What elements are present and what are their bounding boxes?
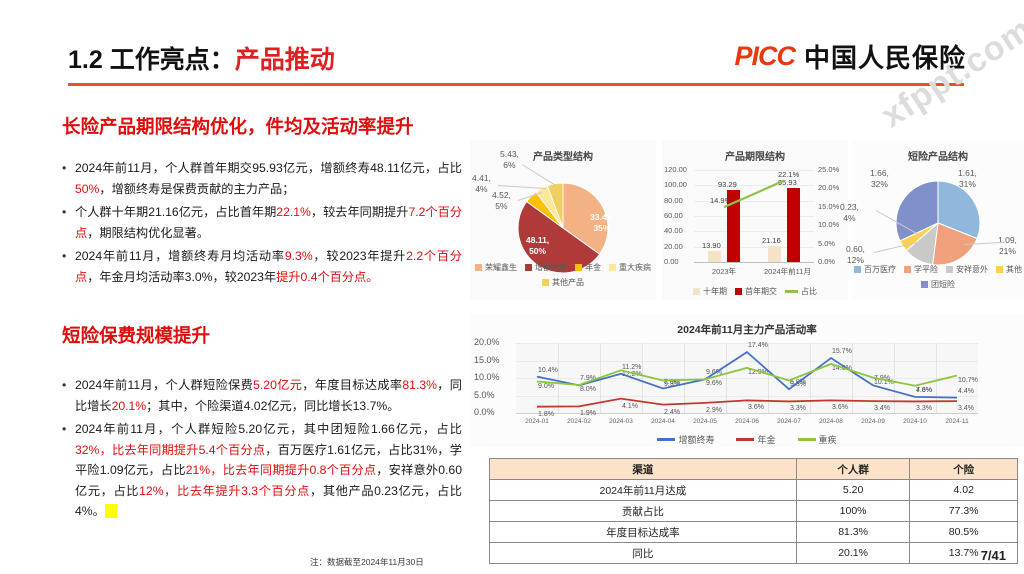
pie-slice-label: 0.23,4% bbox=[840, 202, 859, 224]
page-number: 7/41 bbox=[981, 548, 1006, 563]
pie-label-percent: 4% bbox=[840, 213, 859, 224]
legend-item: 团短险 bbox=[921, 279, 955, 290]
pie-slice-label: 0.60,12% bbox=[846, 244, 865, 266]
legend-swatch bbox=[854, 266, 861, 273]
highlight-figure: 12%，比去年提升3.3个百分点 bbox=[139, 484, 310, 498]
title-main: 工作亮点： bbox=[110, 46, 235, 74]
legend-label: 年金 bbox=[757, 433, 775, 446]
body-text: 2024年前11月，增额终寿月均活动率 bbox=[75, 249, 285, 263]
body-text: ；其中，个险渠道4.02亿元，同比增长13.7%。 bbox=[146, 399, 399, 413]
legend-item: 增额终寿 bbox=[657, 433, 714, 446]
bullet-text: 2024年前11月，增额终寿月均活动率9.3%，较2023年提升2.2个百分点，… bbox=[75, 246, 462, 287]
legend-swatch bbox=[542, 279, 549, 286]
table-row: 年度目标达成率81.3%80.5% bbox=[490, 522, 1018, 543]
body-text: 2024年前11月，个人群短险5.20亿元，其中团短险1.66亿元，占比 bbox=[75, 422, 462, 436]
line-value-label: 14.9% bbox=[710, 196, 731, 205]
pie-label-value: 0.60, bbox=[846, 244, 865, 255]
legend-label: 十年期 bbox=[703, 286, 727, 297]
table-body: 2024年前11月达成5.204.02贡献占比100%77.3%年度目标达成率8… bbox=[490, 480, 1018, 564]
legend-item: 其他 bbox=[996, 264, 1022, 275]
legend-item: 首年期交 bbox=[735, 286, 777, 297]
legend-label: 增额终寿 bbox=[678, 433, 714, 446]
legend-label: 增额终寿 bbox=[535, 262, 567, 273]
pie-label-value: 48.11, bbox=[526, 235, 549, 246]
highlight-figure: 9.3% bbox=[285, 249, 313, 263]
picc-logo: PICC 中国人民保险 bbox=[734, 38, 966, 75]
bullet-dot: • bbox=[62, 375, 75, 416]
table-row: 2024年前11月达成5.204.02 bbox=[490, 480, 1018, 501]
pie-label-percent: 32% bbox=[870, 179, 889, 190]
highlight-figure: 32%，比去年同期提升5.4个百分点 bbox=[75, 443, 265, 457]
legend-swatch bbox=[735, 288, 742, 295]
header-divider bbox=[68, 83, 964, 86]
bullet-item: •2024年前11月，增额终寿月均活动率9.3%，较2023年提升2.2个百分点… bbox=[62, 246, 462, 287]
table-cell: 81.3% bbox=[796, 522, 910, 543]
series-line bbox=[537, 352, 957, 398]
legend-label: 重大疾病 bbox=[619, 262, 651, 273]
pie-slice-label: 1.09,21% bbox=[998, 235, 1017, 257]
legend-item: 年金 bbox=[575, 262, 601, 273]
table-row: 贡献占比100%77.3% bbox=[490, 501, 1018, 522]
table-cell: 77.3% bbox=[910, 501, 1018, 522]
table-cell: 4.02 bbox=[910, 480, 1018, 501]
legend-line-swatch bbox=[657, 438, 675, 441]
legend-label: 团短险 bbox=[931, 279, 955, 290]
legend-item: 重疾 bbox=[798, 433, 837, 446]
legend-item: 十年期 bbox=[693, 286, 727, 297]
highlight-figure: 81.3% bbox=[402, 378, 437, 392]
pie-label-value: 4.41, bbox=[472, 173, 491, 184]
legend-line-swatch bbox=[736, 438, 754, 441]
highlight-figure: 22.1% bbox=[276, 205, 311, 219]
pie-slice-label: 4.52,5% bbox=[492, 190, 511, 212]
legend-swatch bbox=[575, 264, 582, 271]
table-cell: 20.1% bbox=[796, 543, 910, 564]
pie-label-percent: 31% bbox=[958, 179, 977, 190]
legend-item: 荣耀鑫生 bbox=[475, 262, 517, 273]
legend-label: 学平险 bbox=[914, 264, 938, 275]
legend-swatch bbox=[475, 264, 482, 271]
bullet-item: •2024年前11月，个人群首年期交95.93亿元，增额终寿48.11亿元，占比… bbox=[62, 158, 462, 199]
pie-slice-label: 5.43,6% bbox=[500, 149, 519, 171]
footnote: 注：数据截至2024年11月30日 bbox=[310, 556, 424, 568]
line-chart-svg bbox=[470, 315, 1024, 447]
bullet-dot: • bbox=[62, 419, 75, 522]
table-cell: 2024年前11月达成 bbox=[490, 480, 797, 501]
line-ratio bbox=[724, 181, 784, 207]
chart-activity-rate-line: 2024年前11月主力产品活动率 0.0%5.0%10.0%15.0%20.0%… bbox=[470, 315, 1024, 447]
body-text: ，较去年同期提升 bbox=[311, 205, 409, 219]
legend-swatch bbox=[921, 281, 928, 288]
highlight-figure: 50% bbox=[75, 182, 99, 196]
series-line bbox=[537, 399, 957, 407]
legend-label: 占比 bbox=[801, 286, 817, 297]
pie-slice-label: 33.46,35% bbox=[590, 212, 614, 234]
legend-swatch bbox=[525, 264, 532, 271]
legend-item: 其他产品 bbox=[542, 277, 584, 288]
pie-label-value: 1.66, bbox=[870, 168, 889, 179]
legend-swatch bbox=[904, 266, 911, 273]
bullet-text: 2024年前11月，个人群首年期交95.93亿元，增额终寿48.11亿元，占比5… bbox=[75, 158, 462, 199]
pie-label-value: 1.61, bbox=[958, 168, 977, 179]
table-header-row: 渠道个人群个险 bbox=[490, 459, 1018, 480]
section-heading-long-term: 长险产品期限结构优化，件均及活动率提升 bbox=[62, 113, 414, 139]
page-title: 1.2 工作亮点：产品推动 bbox=[68, 40, 335, 76]
body-text: 2024年前11月，个人群短险保费 bbox=[75, 378, 253, 392]
legend-swatch bbox=[946, 266, 953, 273]
table-cell: 贡献占比 bbox=[490, 501, 797, 522]
pie-slice-label: 4.41,4% bbox=[472, 173, 491, 195]
pie-label-percent: 35% bbox=[590, 223, 614, 234]
legend-item: 年金 bbox=[736, 433, 775, 446]
legend-item: 重大疾病 bbox=[609, 262, 651, 273]
legend-item: 占比 bbox=[785, 286, 817, 297]
bullet-dot: • bbox=[62, 158, 75, 199]
yellow-marker bbox=[105, 504, 117, 518]
pie-label-value: 4.52, bbox=[492, 190, 511, 201]
chart-term-structure-combo: 产品期限结构 0.0020.0040.0060.0080.00100.00120… bbox=[662, 140, 848, 300]
combo-line-svg bbox=[662, 140, 848, 300]
pie-label-percent: 6% bbox=[500, 160, 519, 171]
line-value-label: 22.1% bbox=[778, 170, 799, 179]
bullet-text: 2024年前11月，个人群短险保费5.20亿元，年度目标达成率81.3%，同比增… bbox=[75, 375, 462, 416]
bullet-dot: • bbox=[62, 246, 75, 287]
legend-label: 安祥意外 bbox=[956, 264, 988, 275]
legend-item: 增额终寿 bbox=[525, 262, 567, 273]
body-text: ，较2023年提升 bbox=[313, 249, 407, 263]
table-cell: 年度目标达成率 bbox=[490, 522, 797, 543]
table-row: 同比20.1%13.7% bbox=[490, 543, 1018, 564]
legend-label: 首年期交 bbox=[745, 286, 777, 297]
body-text: 2024年前11月，个人群首年期交95.93亿元，增额终寿48.11亿元，占比 bbox=[75, 161, 462, 175]
table-column-header: 个险 bbox=[910, 459, 1018, 480]
legend-label: 荣耀鑫生 bbox=[485, 262, 517, 273]
pie-slice-label: 1.61,31% bbox=[958, 168, 977, 190]
legend-line-swatch bbox=[798, 438, 816, 441]
bullet-list-long-term: •2024年前11月，个人群首年期交95.93亿元，增额终寿48.11亿元，占比… bbox=[62, 158, 462, 290]
legend-item: 百万医疗 bbox=[854, 264, 896, 275]
pie-label-value: 0.23, bbox=[840, 202, 859, 213]
highlight-figure: 提升0.4个百分点。 bbox=[276, 270, 378, 284]
table-cell: 100% bbox=[796, 501, 910, 522]
body-text: ，年度目标达成率 bbox=[302, 378, 402, 392]
section-heading-short-term: 短险保费规模提升 bbox=[62, 322, 210, 348]
series-line bbox=[537, 364, 957, 386]
chart-legend: 百万医疗学平险安祥意外其他团短险 bbox=[852, 264, 1024, 290]
bullet-item: •2024年前11月，个人群短险保费5.20亿元，年度目标达成率81.3%，同比… bbox=[62, 375, 462, 416]
pie-label-percent: 21% bbox=[998, 246, 1017, 257]
table-cell: 同比 bbox=[490, 543, 797, 564]
table-cell: 80.5% bbox=[910, 522, 1018, 543]
bullet-list-short-term: •2024年前11月，个人群短险保费5.20亿元，年度目标达成率81.3%，同比… bbox=[62, 375, 462, 525]
pie-label-percent: 50% bbox=[526, 246, 549, 257]
table-cell: 5.20 bbox=[796, 480, 910, 501]
pie-slice-label: 48.11,50% bbox=[526, 235, 549, 257]
legend-item: 安祥意外 bbox=[946, 264, 988, 275]
legend-label: 其他产品 bbox=[552, 277, 584, 288]
pie-label-percent: 5% bbox=[492, 201, 511, 212]
bullet-item: •2024年前11月，个人群短险5.20亿元，其中团短险1.66亿元，占比32%… bbox=[62, 419, 462, 522]
pie-slice-label: 1.66,32% bbox=[870, 168, 889, 190]
legend-label: 年金 bbox=[585, 262, 601, 273]
legend-label: 重疾 bbox=[819, 433, 837, 446]
legend-swatch bbox=[693, 288, 700, 295]
title-accent: 产品推动 bbox=[235, 46, 335, 74]
legend-label: 百万医疗 bbox=[864, 264, 896, 275]
legend-swatch bbox=[996, 266, 1003, 273]
legend-label: 其他 bbox=[1006, 264, 1022, 275]
bullet-text: 个人群十年期21.16亿元，占比首年期22.1%，较去年同期提升7.2个百分点，… bbox=[75, 202, 462, 243]
title-number: 1.2 bbox=[68, 46, 103, 74]
table-column-header: 个人群 bbox=[796, 459, 910, 480]
pie-label-percent: 4% bbox=[472, 184, 491, 195]
body-text: ，期限结构优化显著。 bbox=[87, 226, 209, 240]
legend-swatch bbox=[609, 264, 616, 271]
pie-label-value: 33.46, bbox=[590, 212, 614, 223]
legend-line-swatch bbox=[785, 290, 798, 293]
summary-table: 渠道个人群个险 2024年前11月达成5.204.02贡献占比100%77.3%… bbox=[489, 458, 1018, 564]
bullet-dot: • bbox=[62, 202, 75, 243]
pie-label-value: 1.09, bbox=[998, 235, 1017, 246]
bullet-item: •个人群十年期21.16亿元，占比首年期22.1%，较去年同期提升7.2个百分点… bbox=[62, 202, 462, 243]
chart-legend: 荣耀鑫生增额终寿年金重大疾病其他产品 bbox=[470, 262, 656, 288]
chart-short-term-product-pie: 短险产品结构 1.61,31%1.09,21%0.60,12%0.23,4%1.… bbox=[852, 140, 1024, 300]
logo-latin-text: PICC bbox=[734, 41, 795, 72]
table-column-header: 渠道 bbox=[490, 459, 797, 480]
logo-chinese-text: 中国人民保险 bbox=[804, 38, 966, 75]
chart-legend: 增额终寿年金重疾 bbox=[470, 433, 1024, 446]
highlight-figure: 21%，比去年同期提升0.8个百分点 bbox=[186, 463, 377, 477]
legend-item: 学平险 bbox=[904, 264, 938, 275]
channel-table: 渠道个人群个险 2024年前11月达成5.204.02贡献占比100%77.3%… bbox=[489, 458, 1018, 564]
chart-legend: 十年期首年期交占比 bbox=[662, 286, 848, 297]
body-text: ，增额终寿是保费贡献的主力产品； bbox=[99, 182, 294, 196]
body-text: 个人群十年期21.16亿元，占比首年期 bbox=[75, 205, 276, 219]
bullet-text: 2024年前11月，个人群短险5.20亿元，其中团短险1.66亿元，占比32%，… bbox=[75, 419, 462, 522]
chart-product-type-pie: 产品类型结构 33.46,35%48.11,50%4.52,5%4.41,4%5… bbox=[470, 140, 656, 300]
body-text: ，年金月均活动率3.0%，较2023年 bbox=[87, 270, 276, 284]
highlight-figure: 5.20亿元 bbox=[253, 378, 302, 392]
highlight-figure: 20.1% bbox=[112, 399, 147, 413]
pie-label-value: 5.43, bbox=[500, 149, 519, 160]
slide: xfppt.com 1.2 工作亮点：产品推动 PICC 中国人民保险 长险产品… bbox=[0, 0, 1024, 574]
